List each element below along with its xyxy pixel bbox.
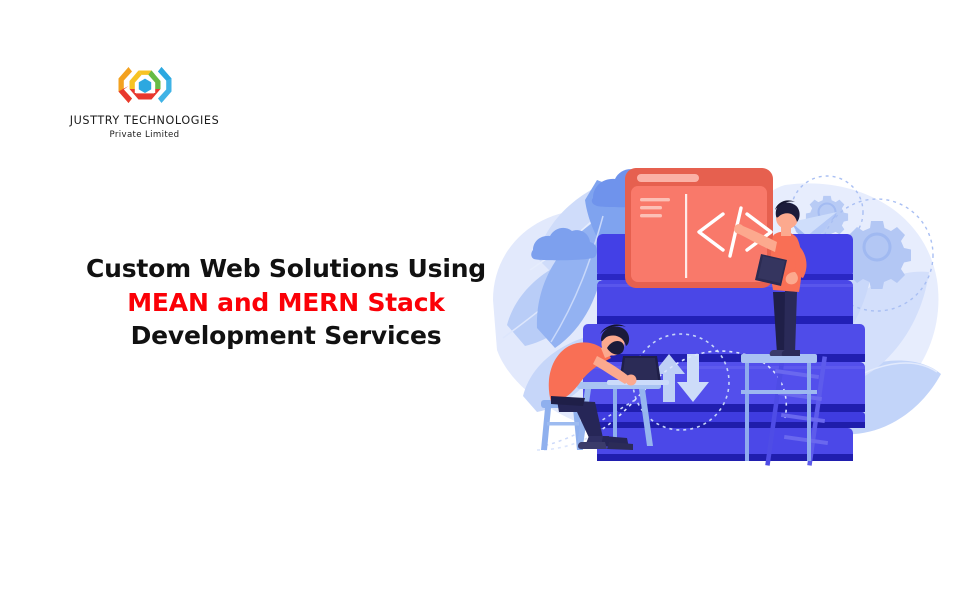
code-window (625, 168, 773, 288)
headline-line-1: Custom Web Solutions Using (60, 252, 512, 286)
logo-wordmark: JUSTTRY TECHNOLOGIES (70, 114, 220, 128)
company-logo[interactable]: JUSTTRY TECHNOLOGIES Private Limited (72, 60, 217, 140)
marketing-banner: JUSTTRY TECHNOLOGIES Private Limited Cus… (0, 0, 960, 600)
headline-line-3: Development Services (60, 319, 512, 353)
logo-subtext: Private Limited (110, 130, 180, 140)
page-title: Custom Web Solutions Using MEAN and MERN… (60, 252, 512, 353)
justtry-hexagon-logo-icon (114, 60, 176, 110)
web-development-stack-illustration (485, 150, 945, 470)
headline-line-2-accent: MEAN and MERN Stack (60, 286, 512, 320)
